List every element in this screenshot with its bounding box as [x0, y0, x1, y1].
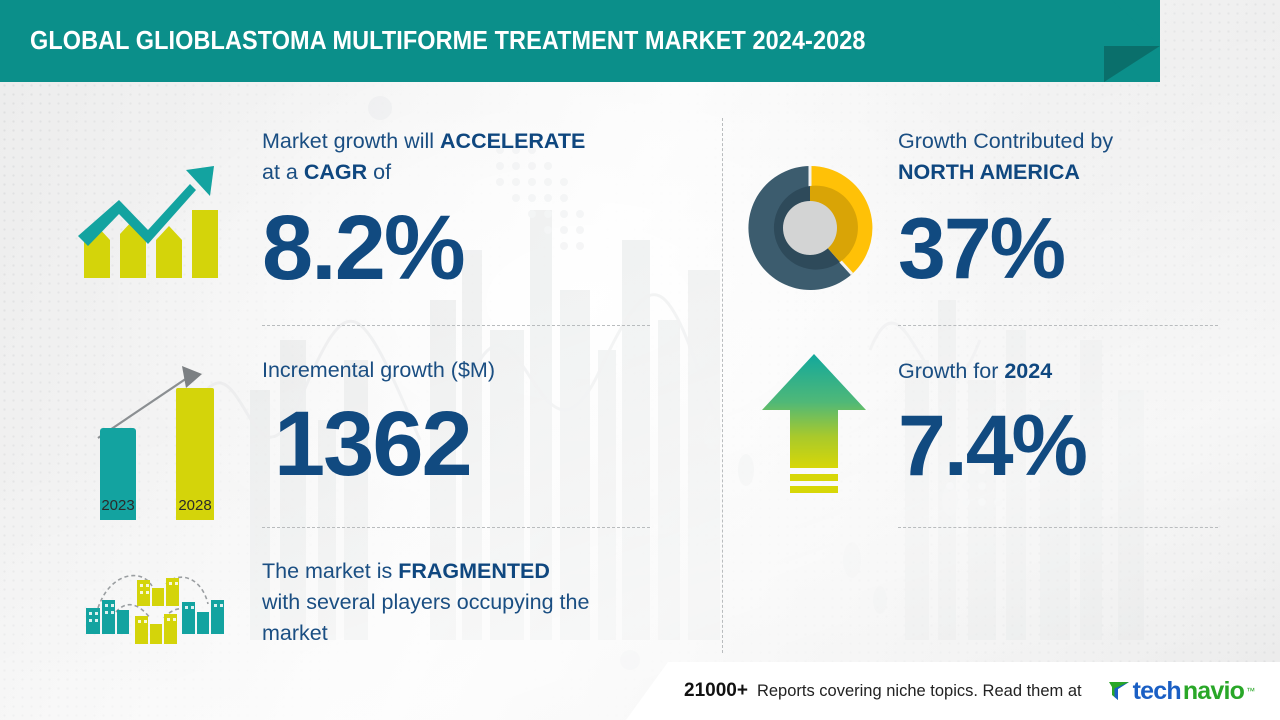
fragmented-market-icon — [80, 556, 230, 648]
bar-label-2023: 2023 — [101, 497, 134, 514]
frag-line1-bold: FRAGMENTED — [398, 559, 550, 583]
yearly-growth-caption: Growth for 2024 — [898, 356, 1086, 387]
region-caption: Growth Contributed by NORTH AMERICA — [898, 126, 1113, 188]
region-contribution-block: Growth Contributed by NORTH AMERICA 37% — [898, 126, 1113, 292]
bar-label-2028: 2028 — [178, 497, 211, 514]
region-line2-bold: NORTH AMERICA — [898, 160, 1080, 184]
frag-line3: market — [262, 621, 328, 645]
technavio-logo-navio: navio — [1183, 677, 1244, 706]
footer-report-count: 21000+ — [684, 680, 748, 702]
cagr-block: Market growth will ACCELERATE at a CAGR … — [262, 126, 585, 294]
trend-arrow-head — [182, 366, 202, 388]
cagr-line1-prefix: Market growth will — [262, 129, 440, 153]
yearly-growth-block: Growth for 2024 7.4% — [898, 356, 1086, 489]
right-divider-1 — [898, 325, 1218, 326]
incremental-caption: Incremental growth ($M) — [262, 355, 495, 386]
growth-chart-icon — [72, 148, 232, 278]
header-banner-fold — [1104, 46, 1160, 82]
region-line1: Growth Contributed by — [898, 129, 1113, 153]
header-banner-notch — [1112, 0, 1160, 46]
page-title: GLOBAL GLIOBLASTOMA MULTIFORME TREATMENT… — [30, 27, 866, 56]
up-arrow-icon — [756, 350, 872, 510]
bar-compare-icon: 2023 2028 — [72, 330, 232, 520]
cagr-line2-bold: CAGR — [304, 160, 367, 184]
technavio-logo[interactable]: technavio™ — [1107, 677, 1256, 706]
cagr-line1-bold: ACCELERATE — [440, 129, 585, 153]
column-divider — [722, 118, 723, 653]
incremental-value: 1362 — [274, 398, 495, 490]
technavio-mark-icon — [1107, 678, 1131, 704]
yearly-growth-value: 7.4% — [898, 403, 1086, 489]
yearly-growth-prefix: Growth for — [898, 359, 1004, 383]
fragmentation-block: The market is FRAGMENTED with several pl… — [262, 556, 682, 649]
footer-bar: 21000+ Reports covering niche topics. Re… — [0, 662, 1280, 720]
frag-line1-prefix: The market is — [262, 559, 398, 583]
cagr-value: 8.2% — [262, 202, 585, 294]
technavio-logo-tech: tech — [1133, 677, 1181, 706]
right-divider-2 — [898, 527, 1218, 528]
infographic-canvas: GLOBAL GLIOBLASTOMA MULTIFORME TREATMENT… — [0, 0, 1280, 720]
left-divider-2 — [262, 527, 650, 528]
donut-center — [783, 201, 837, 255]
region-value: 37% — [898, 206, 1113, 292]
yearly-growth-year: 2024 — [1004, 359, 1052, 383]
footer-content: 21000+ Reports covering niche topics. Re… — [684, 662, 1255, 720]
donut-chart-icon — [742, 160, 878, 296]
cagr-line2-prefix: at a — [262, 160, 304, 184]
left-divider-1 — [262, 325, 650, 326]
fragmentation-caption: The market is FRAGMENTED with several pl… — [262, 556, 682, 649]
frag-line2: with several players occupying the — [262, 590, 589, 614]
cagr-caption: Market growth will ACCELERATE at a CAGR … — [262, 126, 585, 188]
technavio-logo-tm: ™ — [1246, 686, 1255, 696]
incremental-growth-block: Incremental growth ($M) 1362 — [262, 355, 495, 490]
cagr-line2-suffix: of — [367, 160, 391, 184]
footer-text: Reports covering niche topics. Read them… — [757, 682, 1082, 701]
